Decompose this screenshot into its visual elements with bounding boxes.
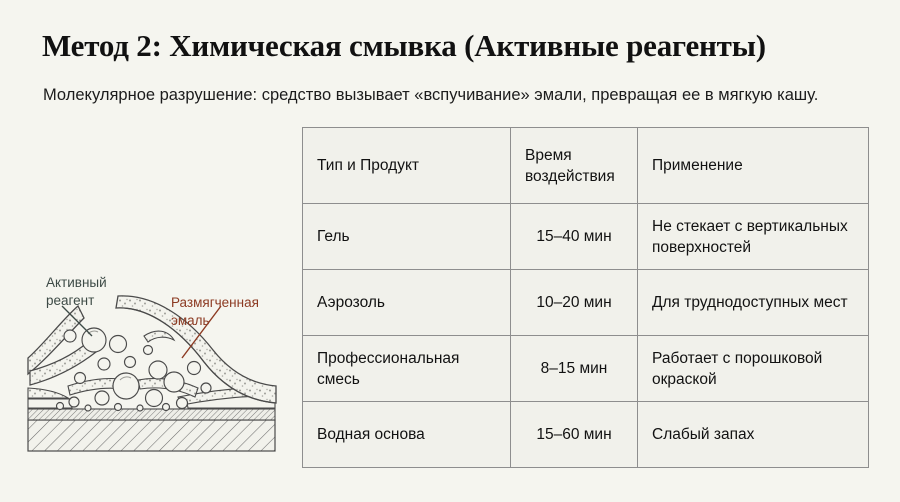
cell-use: Слабый запах — [638, 402, 869, 468]
cell-time: 15–60 мин — [511, 402, 638, 468]
cell-use: Для труднодоступных мест — [638, 270, 869, 336]
table-row: Профессиональная смесь 8–15 мин Работает… — [303, 336, 869, 402]
label-active-reagent-line2: реагент — [46, 292, 107, 310]
column-header-time-line2: воздействия — [525, 166, 623, 187]
slide-subtitle: Молекулярное разрушение: средство вызыва… — [43, 83, 853, 108]
label-softened-enamel: Размягченная эмаль — [171, 294, 259, 330]
label-active-reagent-line1: Активный — [46, 274, 107, 292]
cell-product: Аэрозоль — [303, 270, 511, 336]
cell-time: 8–15 мин — [511, 336, 638, 402]
label-softened-enamel-line1: Размягченная — [171, 294, 259, 312]
label-softened-enamel-line2: эмаль — [171, 312, 259, 330]
substrate-layer — [28, 420, 275, 451]
page-title: Метод 2: Химическая смывка (Активные реа… — [42, 27, 766, 65]
column-header-time: Время воздействия — [511, 128, 638, 204]
cell-product: Профессиональная смесь — [303, 336, 511, 402]
cell-product: Водная основа — [303, 402, 511, 468]
table-header-row: Тип и Продукт Время воздействия Применен… — [303, 128, 869, 204]
table-row: Водная основа 15–60 мин Слабый запах — [303, 402, 869, 468]
stripper-types-table: Тип и Продукт Время воздействия Применен… — [302, 127, 869, 468]
label-active-reagent: Активный реагент — [46, 274, 107, 310]
column-header-product: Тип и Продукт — [303, 128, 511, 204]
column-header-use: Применение — [638, 128, 869, 204]
cell-time: 10–20 мин — [511, 270, 638, 336]
cell-time: 15–40 мин — [511, 204, 638, 270]
table-row: Гель 15–40 мин Не стекает с вертикальных… — [303, 204, 869, 270]
cell-use: Не стекает с вертикальных поверхностей — [638, 204, 869, 270]
table-row: Аэрозоль 10–20 мин Для труднодоступных м… — [303, 270, 869, 336]
primer-layer — [28, 409, 275, 420]
cell-use: Работает с порошковой окраской — [638, 336, 869, 402]
column-header-time-line1: Время — [525, 145, 623, 166]
cell-product: Гель — [303, 204, 511, 270]
intact-enamel-left — [28, 388, 72, 408]
